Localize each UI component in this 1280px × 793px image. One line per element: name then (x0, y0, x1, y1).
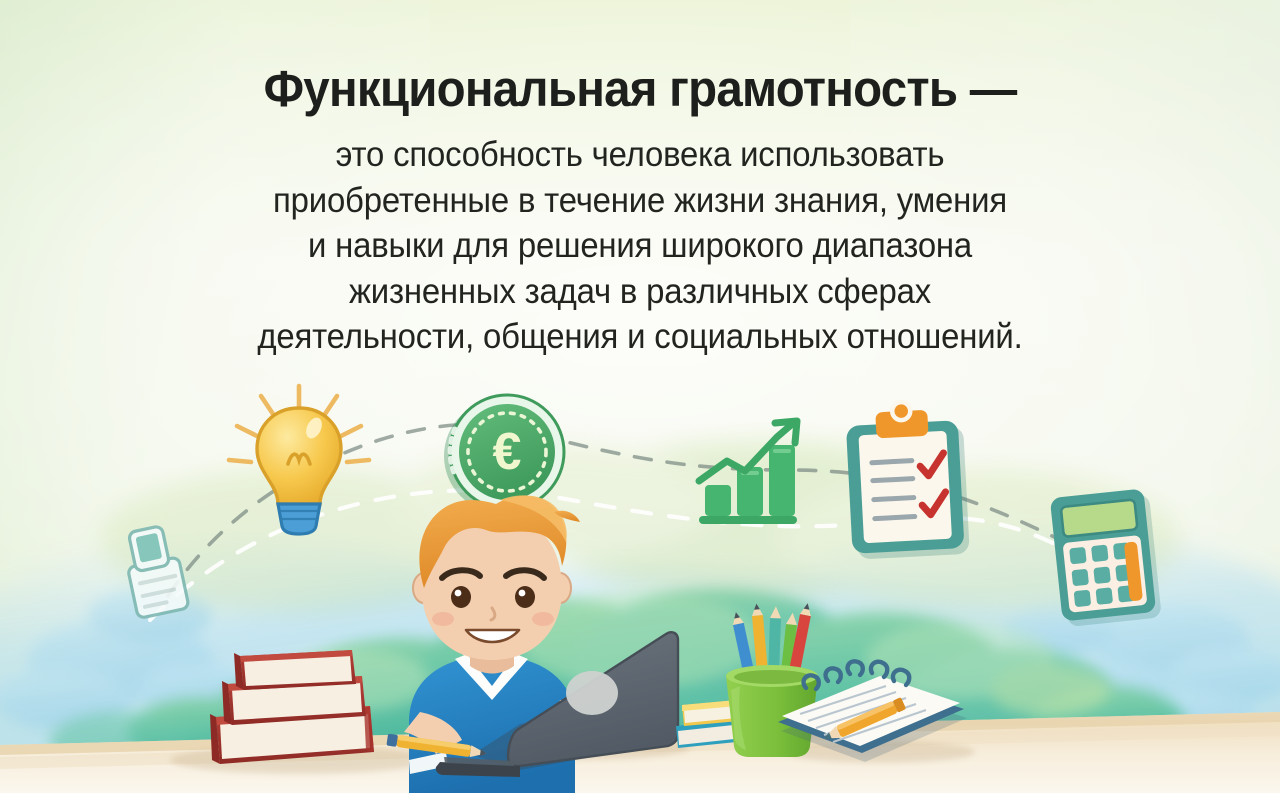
boy-cheek-right (532, 612, 554, 626)
book-top (234, 650, 356, 690)
cup-inner (734, 670, 810, 684)
boy-eye-left (451, 586, 471, 608)
boy-cheek-left (432, 612, 454, 626)
laptop-logo (566, 671, 618, 715)
boy-eye-right (515, 586, 535, 608)
body-line-5: деятельности, общения и социальных отнош… (104, 314, 1176, 360)
body-line-2: приобретенные в течение жизни знания, ум… (104, 178, 1176, 224)
book-stack (210, 650, 374, 764)
body-line-4: жизненных задач в различных сферах (104, 269, 1176, 315)
body-line-1: это способность человека использовать (104, 132, 1176, 178)
poster-root: € (0, 0, 1280, 793)
page-title: Функциональная грамотность — (110, 62, 1170, 116)
headline-block: Функциональная грамотность — это способн… (0, 62, 1280, 360)
body-line-3: и навыки для решения широкого диапазона (104, 223, 1176, 269)
